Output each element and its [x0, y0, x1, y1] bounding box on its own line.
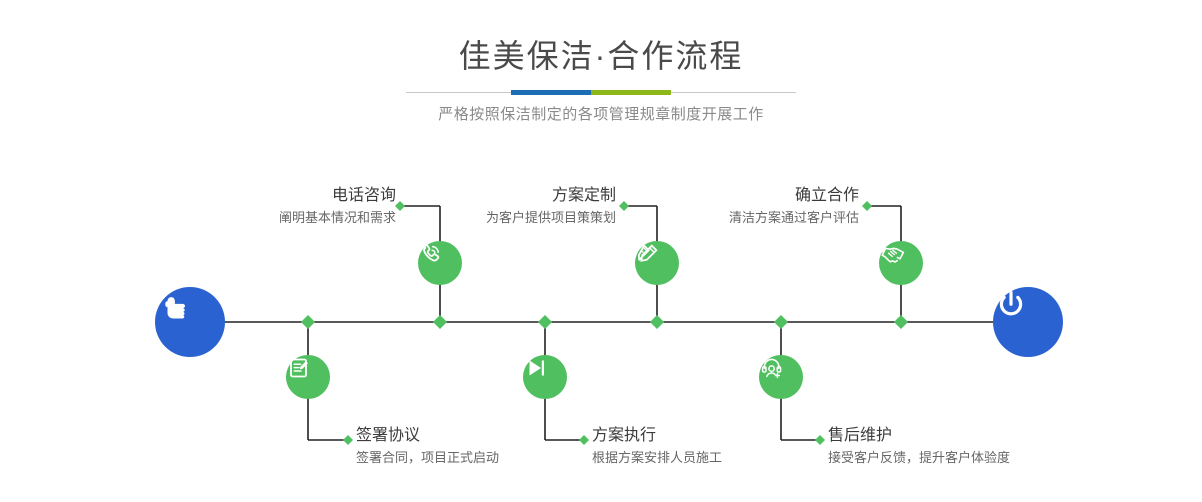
- flow-node-step-1[interactable]: [418, 241, 462, 285]
- flow-label-step-2-title: 签署协议: [356, 426, 616, 446]
- flow-start-node[interactable]: [155, 287, 225, 357]
- flow-label-step-4-desc: 根据方案安排人员施工: [592, 448, 852, 467]
- flow-node-step-2[interactable]: [286, 355, 330, 399]
- flow-node-step-4[interactable]: [523, 355, 567, 399]
- diamond-step-4-timeline: [538, 315, 552, 329]
- diamond-step-5-label: [862, 201, 872, 211]
- flow-label-step-6: 售后维护 接受客户反馈，提升客户体验度: [828, 426, 1128, 467]
- flow-label-step-2: 签署协议 签署合同，项目正式启动: [356, 426, 616, 467]
- diamond-step-3-timeline: [650, 315, 664, 329]
- diamond-step-1-timeline: [433, 315, 447, 329]
- diamond-step-2-timeline: [301, 315, 315, 329]
- flow-label-step-5-desc: 清洁方案通过客户评估: [640, 208, 859, 227]
- flow-label-step-5-title: 确立合作: [640, 186, 859, 206]
- process-flow-diagram: 电话咨询 阐明基本情况和需求 签署协议 签署合同，项目正式启动: [0, 0, 1202, 502]
- flow-node-step-3[interactable]: [635, 241, 679, 285]
- flow-label-step-6-desc: 接受客户反馈，提升客户体验度: [828, 448, 1128, 467]
- flow-end-node[interactable]: [993, 287, 1063, 357]
- flow-label-step-3-desc: 为客户提供项目策策划: [400, 208, 616, 227]
- flow-label-step-4-title: 方案执行: [592, 426, 852, 446]
- flow-label-step-1: 电话咨询 阐明基本情况和需求: [180, 186, 396, 227]
- page-root: 佳美保洁·合作流程 严格按照保洁制定的各项管理规章制度开展工作: [0, 0, 1202, 502]
- diamond-step-5-timeline: [894, 315, 908, 329]
- diamond-step-2-label: [343, 435, 353, 445]
- flow-label-step-1-title: 电话咨询: [180, 186, 396, 206]
- diamond-step-3-label: [619, 201, 629, 211]
- flow-label-step-4: 方案执行 根据方案安排人员施工: [592, 426, 852, 467]
- flow-node-step-6[interactable]: [759, 355, 803, 399]
- flow-label-step-2-desc: 签署合同，项目正式启动: [356, 448, 616, 467]
- flow-label-step-3: 方案定制 为客户提供项目策策划: [400, 186, 616, 227]
- flow-node-step-5[interactable]: [879, 241, 923, 285]
- flow-label-step-1-desc: 阐明基本情况和需求: [180, 208, 396, 227]
- flow-label-step-3-title: 方案定制: [400, 186, 616, 206]
- flow-label-step-5: 确立合作 清洁方案通过客户评估: [640, 186, 859, 227]
- flow-label-step-6-title: 售后维护: [828, 426, 1128, 446]
- diamond-step-6-timeline: [774, 315, 788, 329]
